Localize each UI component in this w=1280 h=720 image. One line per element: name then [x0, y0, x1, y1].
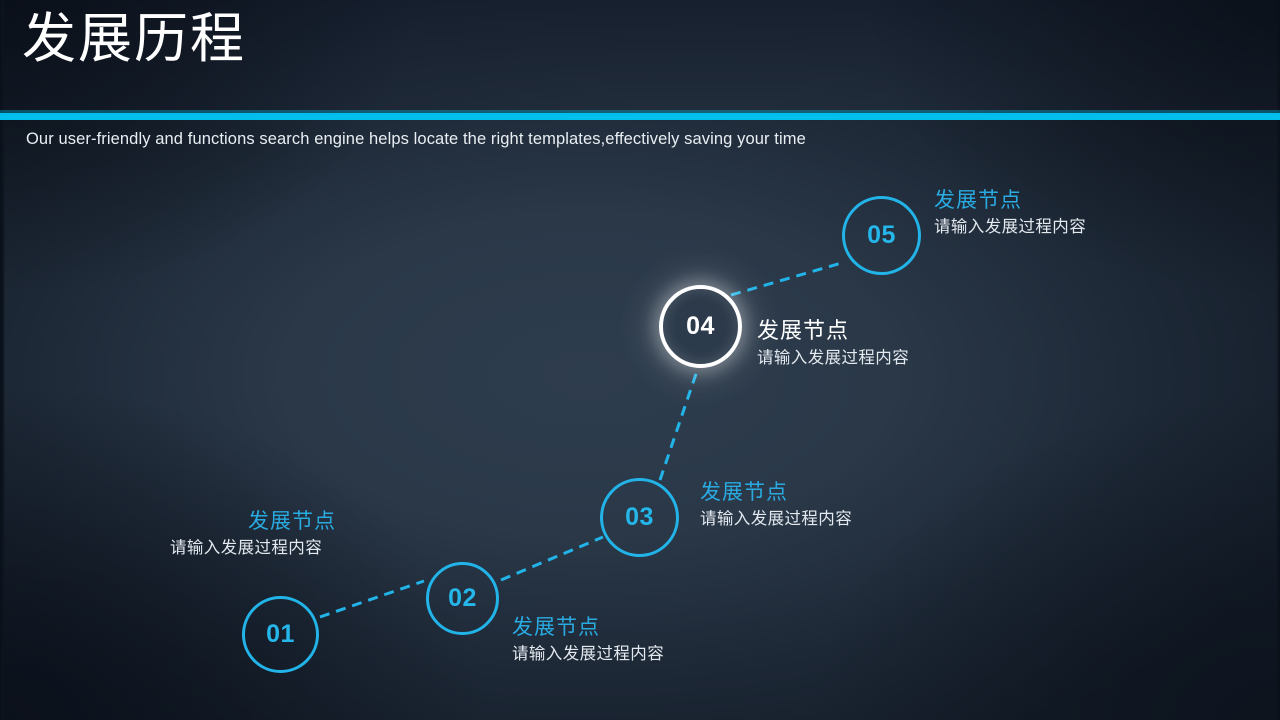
slide-canvas: 发展历程 Our user-friendly and functions sea… [0, 0, 1280, 720]
timeline-node-03[interactable]: 03 [600, 478, 679, 557]
timeline-label-01: 发展节点 请输入发展过程内容 [170, 509, 336, 559]
timeline-label-05-heading: 发展节点 [934, 188, 1112, 214]
timeline-node-01[interactable]: 01 [242, 596, 319, 673]
timeline-label-01-body: 请输入发展过程内容 [170, 538, 336, 560]
timeline-label-03-heading: 发展节点 [700, 480, 872, 506]
timeline-node-04[interactable]: 04 [659, 285, 742, 368]
timeline-node-01-number: 01 [266, 620, 295, 649]
timeline-label-01-heading: 发展节点 [170, 509, 336, 535]
timeline-label-03-body: 请输入发展过程内容 [700, 509, 872, 531]
background-vignette-bottom-right [820, 400, 1280, 720]
slide-edge-left [0, 0, 5, 720]
timeline-node-05-number: 05 [867, 221, 896, 250]
timeline-label-05: 发展节点 请输入发展过程内容 [934, 188, 1112, 238]
page-subtitle: Our user-friendly and functions search e… [26, 130, 806, 149]
timeline-label-03: 发展节点 请输入发展过程内容 [700, 480, 872, 530]
timeline-node-04-number: 04 [686, 312, 715, 341]
page-title: 发展历程 [22, 12, 246, 66]
timeline-label-02: 发展节点 请输入发展过程内容 [512, 615, 686, 665]
slide-edge-right [1276, 0, 1280, 720]
timeline-label-02-body: 请输入发展过程内容 [512, 644, 686, 666]
timeline-label-04: 发展节点 请输入发展过程内容 [757, 318, 933, 370]
timeline-node-02[interactable]: 02 [426, 562, 499, 635]
timeline-node-02-number: 02 [448, 584, 477, 613]
background-vignette-top-right [860, 0, 1280, 300]
timeline-label-05-body: 请输入发展过程内容 [934, 217, 1112, 239]
timeline-node-03-number: 03 [625, 503, 654, 532]
timeline-node-05[interactable]: 05 [842, 196, 921, 275]
timeline-label-04-heading: 发展节点 [757, 318, 933, 345]
header-divider [0, 113, 1280, 120]
timeline-label-02-heading: 发展节点 [512, 615, 686, 641]
timeline-label-04-body: 请输入发展过程内容 [757, 348, 933, 370]
